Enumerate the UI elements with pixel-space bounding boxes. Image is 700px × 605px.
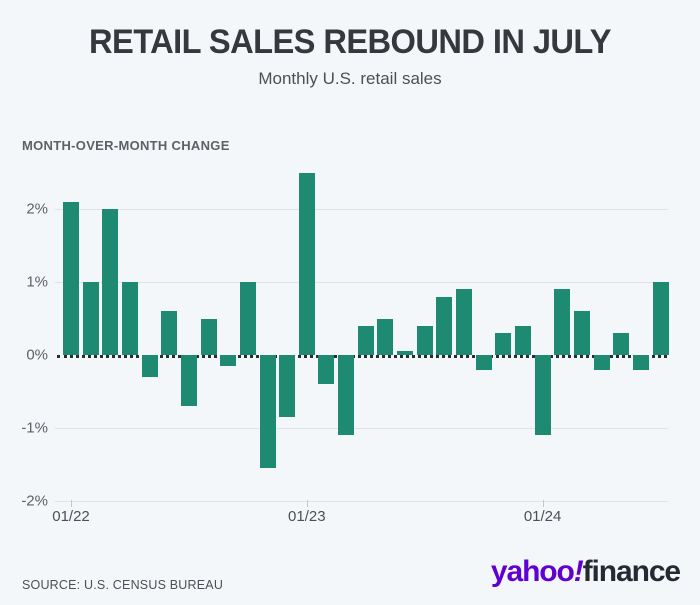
bar[interactable] — [142, 355, 158, 377]
brand-finance-text: finance — [583, 555, 680, 588]
bar[interactable] — [220, 355, 236, 366]
bar[interactable] — [653, 282, 669, 355]
bar[interactable] — [299, 173, 315, 356]
bar[interactable] — [161, 311, 177, 355]
x-axis-tick-label: 01/24 — [524, 508, 562, 525]
gridline — [55, 282, 668, 283]
bar[interactable] — [201, 319, 217, 356]
x-axis-tick-mark — [71, 500, 72, 507]
bar[interactable] — [535, 355, 551, 435]
bar[interactable] — [613, 333, 629, 355]
source-note: SOURCE: U.S. CENSUS BUREAU — [22, 578, 223, 592]
bar[interactable] — [417, 326, 433, 355]
bar[interactable] — [377, 319, 393, 356]
x-axis-tick-mark — [307, 500, 308, 507]
y-axis-tick-label: -2% — [21, 493, 48, 510]
bar[interactable] — [240, 282, 256, 355]
x-axis-tick-label: 01/23 — [288, 508, 326, 525]
bar[interactable] — [554, 289, 570, 355]
y-axis-tick-label: -1% — [21, 420, 48, 437]
bar[interactable] — [63, 202, 79, 355]
yahoo-finance-logo: yahoo!finance — [491, 556, 680, 588]
bar[interactable] — [279, 355, 295, 417]
y-axis-tick-label: 0% — [26, 347, 48, 364]
x-axis-tick-label: 01/22 — [52, 508, 90, 525]
bar[interactable] — [102, 209, 118, 355]
bar[interactable] — [181, 355, 197, 406]
bar[interactable] — [83, 282, 99, 355]
bar[interactable] — [358, 326, 374, 355]
bar[interactable] — [594, 355, 610, 370]
gridline — [55, 209, 668, 210]
bar[interactable] — [397, 351, 413, 355]
brand-yahoo-text: yahoo — [491, 555, 574, 588]
chart-card: RETAIL SALES REBOUND IN JULY Monthly U.S… — [0, 0, 700, 605]
y-axis-tick-label: 2% — [26, 201, 48, 218]
bar[interactable] — [122, 282, 138, 355]
bar[interactable] — [456, 289, 472, 355]
brand-exclamation-icon: ! — [574, 555, 583, 588]
gridline — [55, 428, 668, 429]
bar[interactable] — [318, 355, 334, 384]
bar[interactable] — [476, 355, 492, 370]
bar[interactable] — [633, 355, 649, 370]
bar[interactable] — [436, 297, 452, 355]
bar[interactable] — [574, 311, 590, 355]
bar[interactable] — [260, 355, 276, 468]
bar[interactable] — [338, 355, 354, 435]
bar[interactable] — [515, 326, 531, 355]
plot-area: 2%1%0%-1%-2%01/2201/2301/24 — [0, 0, 700, 605]
y-axis-tick-label: 1% — [26, 274, 48, 291]
x-axis-tick-mark — [543, 500, 544, 507]
bar[interactable] — [495, 333, 511, 355]
gridline — [55, 501, 668, 502]
